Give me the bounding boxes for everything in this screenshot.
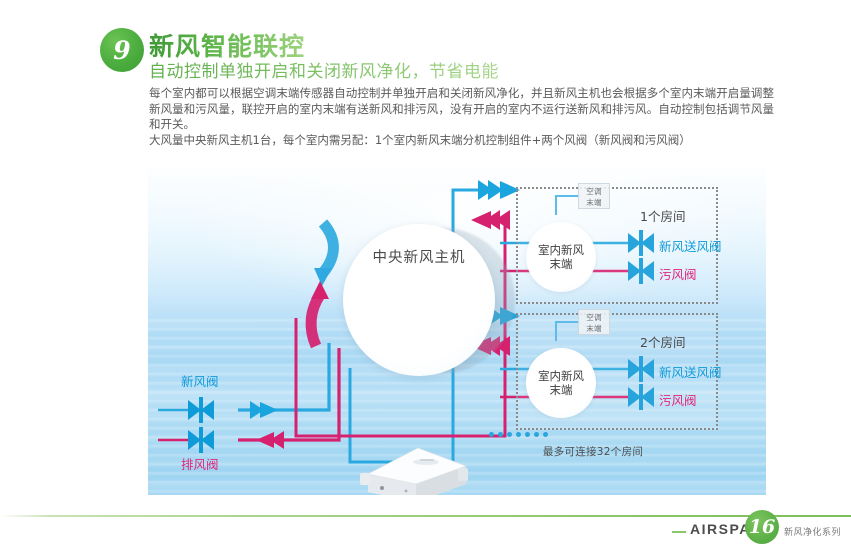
expansion-dots xyxy=(489,432,548,437)
room-2-terminal-node: 室内新风 末端 xyxy=(526,348,596,418)
expansion-dot xyxy=(507,432,512,437)
room-2-ac-chip-line1: 空调 xyxy=(586,313,602,322)
exhaust-valve-label: 排风阀 xyxy=(181,454,219,473)
footer-dash-decoration xyxy=(672,531,686,533)
room-2-ac-terminal-chip: 空调 末端 xyxy=(578,309,610,335)
footer-brand: AIRSPA xyxy=(690,521,751,537)
arrow-unit-intake-curve xyxy=(314,223,333,286)
room-2-count-label: 2个房间 xyxy=(640,332,685,351)
footer-page-number: 16 xyxy=(745,510,779,544)
valve-icon-intake xyxy=(158,397,214,423)
valve-icon-exhaust xyxy=(158,427,214,453)
section-number-badge: 9 xyxy=(100,28,144,72)
room-1-terminal-node: 室内新风 末端 xyxy=(526,222,596,292)
expansion-dot xyxy=(498,432,503,437)
system-diagram: 中央新风主机 1个房间 空调 末端 室内新风 末端 新风送风阀 污风阀 xyxy=(148,168,766,495)
pipe-intake-blue xyxy=(238,343,329,410)
expansion-dot xyxy=(534,432,539,437)
page-subtitle: 自动控制单独开启和关闭新风净化，节省电能 xyxy=(149,57,499,82)
room-1-exhaust-valve-label: 污风阀 xyxy=(659,264,697,283)
room-1-supply-valve-label: 新风送风阀 xyxy=(659,236,722,255)
pipe-exhaust-pink xyxy=(238,348,339,440)
central-unit-label: 中央新风主机 xyxy=(343,246,495,267)
central-unit-device-image xyxy=(354,440,472,495)
page-header: 9 新风智能联控 自动控制单独开启和关闭新风净化，节省电能 每个室内都可以根据空… xyxy=(0,0,851,165)
room-2-exhaust-valve-label: 污风阀 xyxy=(659,390,697,409)
expansion-dot xyxy=(516,432,521,437)
room-2-supply-valve-label: 新风送风阀 xyxy=(659,362,722,381)
body-paragraph-2: 大风量中央新风主机1台，每个室内需另配：1个室内新风末端分机控制组件+两个风阀（… xyxy=(149,133,774,149)
room-1-ac-terminal-chip: 空调 末端 xyxy=(578,183,610,209)
room-1-terminal-line2: 末端 xyxy=(550,257,573,271)
intake-valve-label: 新风阀 xyxy=(181,371,219,390)
arrow-return-room1 xyxy=(471,210,520,230)
body-text: 每个室内都可以根据空调末端传感器自动控制并单独开启和关闭新风净化，并且新风主机也… xyxy=(149,86,774,148)
page-root: 9 新风智能联控 自动控制单独开启和关闭新风净化，节省电能 每个室内都可以根据空… xyxy=(0,0,851,560)
room-2-ac-chip-line2: 末端 xyxy=(586,324,602,333)
body-paragraph-1: 每个室内都可以根据空调末端传感器自动控制并单独开启和关闭新风净化，并且新风主机也… xyxy=(149,86,774,133)
room-1-count-label: 1个房间 xyxy=(640,206,685,225)
expansion-dot xyxy=(543,432,548,437)
room-2-terminal-line2: 末端 xyxy=(550,383,573,397)
arrow-unit-exhaust-curve xyxy=(311,281,329,346)
footer-series-label: 新风净化系列 xyxy=(784,525,841,538)
room-1-terminal-line1: 室内新风 xyxy=(538,243,584,257)
room-1-ac-chip-line2: 末端 xyxy=(586,198,602,207)
expansion-dot xyxy=(489,432,494,437)
room-2-terminal-line1: 室内新风 xyxy=(538,369,584,383)
room-1-ac-chip-line1: 空调 xyxy=(586,187,602,196)
max-rooms-note: 最多可连接32个房间 xyxy=(488,444,698,459)
expansion-dot xyxy=(525,432,530,437)
footer-divider xyxy=(0,515,851,517)
